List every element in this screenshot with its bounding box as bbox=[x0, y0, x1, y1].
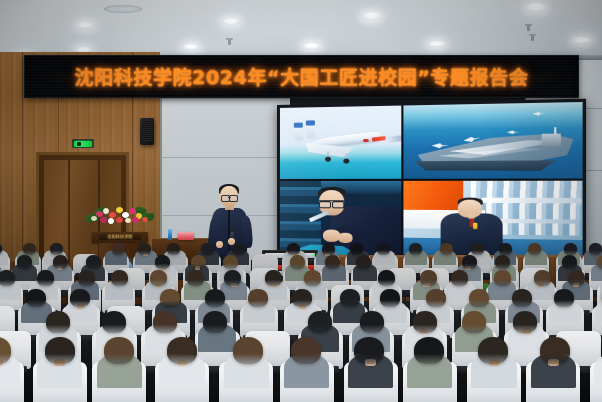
audience-member-head bbox=[308, 311, 332, 333]
audience-member-head bbox=[86, 255, 101, 269]
ceiling-downlight bbox=[222, 18, 240, 25]
audience-member-head bbox=[356, 255, 371, 269]
water-bottle bbox=[168, 229, 172, 240]
audience-member-head bbox=[53, 255, 68, 269]
audience-member-head bbox=[112, 243, 125, 255]
ceiling-downlight bbox=[76, 22, 94, 29]
audience-member-head bbox=[290, 255, 305, 269]
audience-member-head bbox=[45, 337, 75, 364]
audience-member-head bbox=[589, 243, 602, 255]
audience-member-head bbox=[378, 270, 395, 286]
ceiling-downlight bbox=[428, 41, 445, 47]
audience-member-head bbox=[224, 270, 241, 286]
audience-member-head bbox=[37, 270, 54, 286]
audience-member-head bbox=[155, 255, 170, 269]
audience-member-head bbox=[377, 243, 390, 255]
audience-member-head bbox=[568, 270, 585, 286]
audience-member-head bbox=[23, 243, 36, 255]
audience-member-head bbox=[469, 289, 489, 307]
audience-member-head bbox=[420, 270, 437, 286]
audience-member-head bbox=[17, 255, 32, 269]
sprinkler-head bbox=[531, 34, 534, 41]
audience-member-head bbox=[191, 255, 206, 269]
audience-member-head bbox=[451, 270, 468, 286]
audience-member-head bbox=[322, 243, 335, 255]
audience-member-head bbox=[287, 243, 300, 255]
audience-member-head bbox=[104, 337, 134, 364]
ceiling-vent bbox=[104, 5, 142, 13]
audience-member-head bbox=[167, 243, 180, 255]
audience-member-head bbox=[597, 255, 602, 269]
sprinkler-head bbox=[527, 24, 530, 31]
audience-member-head bbox=[495, 255, 510, 269]
audience-member-head bbox=[26, 289, 46, 307]
audience-member-head bbox=[471, 243, 484, 255]
name-card bbox=[178, 232, 194, 240]
ceiling-downlight bbox=[362, 12, 381, 20]
audience-member-head bbox=[138, 243, 151, 255]
audience-member-head bbox=[201, 243, 214, 255]
exit-sign-icon bbox=[72, 139, 94, 148]
audience-member-head bbox=[340, 289, 360, 307]
audience-member-head bbox=[70, 289, 90, 307]
ceiling-downlight bbox=[183, 44, 199, 50]
audience-member-head bbox=[360, 311, 384, 333]
audience-member-head bbox=[440, 243, 453, 255]
audience-member-head bbox=[528, 243, 541, 255]
audience-member-head bbox=[167, 337, 197, 364]
audience-member-head bbox=[409, 243, 422, 255]
audience-member-head bbox=[354, 337, 384, 364]
ceiling-downlight bbox=[303, 43, 320, 49]
audience-member-head bbox=[205, 289, 225, 307]
podium-nameplate-text: 沈阳科技学院 bbox=[107, 234, 132, 240]
audience-member-head bbox=[153, 311, 177, 333]
audience-member-head bbox=[513, 311, 537, 333]
led-banner: 沈阳科技学院2024年“大国工匠进校园”专题报告会 bbox=[24, 55, 579, 98]
audience-member-head bbox=[554, 289, 574, 307]
wall-loudspeaker bbox=[140, 118, 154, 145]
screen-quadrant-carrier bbox=[404, 102, 585, 179]
audience-member-head bbox=[248, 289, 268, 307]
audience-member-head bbox=[512, 289, 532, 307]
auditorium-photo: 沈阳科技学院2024年“大国工匠进校园”专题报告会 bbox=[0, 0, 602, 402]
audience-member-head bbox=[499, 243, 512, 255]
audience-member-head bbox=[462, 311, 486, 333]
audience-member-head bbox=[292, 289, 312, 307]
audience-member-head bbox=[203, 311, 227, 333]
audience-member-head bbox=[232, 243, 245, 255]
audience-member-head bbox=[50, 243, 63, 255]
audience-member-head bbox=[111, 270, 128, 286]
floral-arrangement bbox=[86, 205, 154, 229]
sprinkler-head bbox=[228, 38, 231, 45]
ceiling-downlight bbox=[525, 3, 547, 12]
audience-member-head bbox=[233, 337, 263, 364]
audience-member bbox=[595, 301, 602, 324]
audience-member-head bbox=[78, 270, 95, 286]
audience-member-head bbox=[564, 243, 577, 255]
audience-member-head bbox=[562, 255, 577, 269]
audience-member-head bbox=[291, 337, 321, 364]
audience-member-head bbox=[350, 243, 363, 255]
audience-member-head bbox=[426, 289, 446, 307]
audience-member-head bbox=[494, 270, 511, 286]
audience-member-head bbox=[265, 270, 282, 286]
audience-member-head bbox=[304, 270, 321, 286]
audience-member-head bbox=[46, 311, 70, 333]
podium-nameplate: 沈阳科技学院 bbox=[99, 234, 141, 240]
screen-quadrant-jet bbox=[280, 106, 402, 179]
audience-member-head bbox=[160, 289, 180, 307]
audience-member-head bbox=[462, 255, 477, 269]
ceiling-downlight bbox=[572, 37, 592, 44]
audience-member-head bbox=[534, 270, 551, 286]
audience-member-head bbox=[540, 337, 570, 364]
audience-member-head bbox=[102, 311, 126, 333]
audience-member-head bbox=[325, 255, 340, 269]
audience-member-head bbox=[187, 270, 204, 286]
audience bbox=[0, 252, 602, 402]
audience-member-head bbox=[478, 337, 508, 364]
audience-member-head bbox=[380, 289, 400, 307]
audience-member-head bbox=[150, 270, 167, 286]
audience-member-head bbox=[223, 255, 238, 269]
led-banner-text: 沈阳科技学院2024年“大国工匠进校园”专题报告会 bbox=[75, 63, 529, 90]
audience-member-head bbox=[414, 337, 444, 364]
audience-member-head bbox=[0, 270, 15, 286]
audience-member-head bbox=[413, 311, 437, 333]
